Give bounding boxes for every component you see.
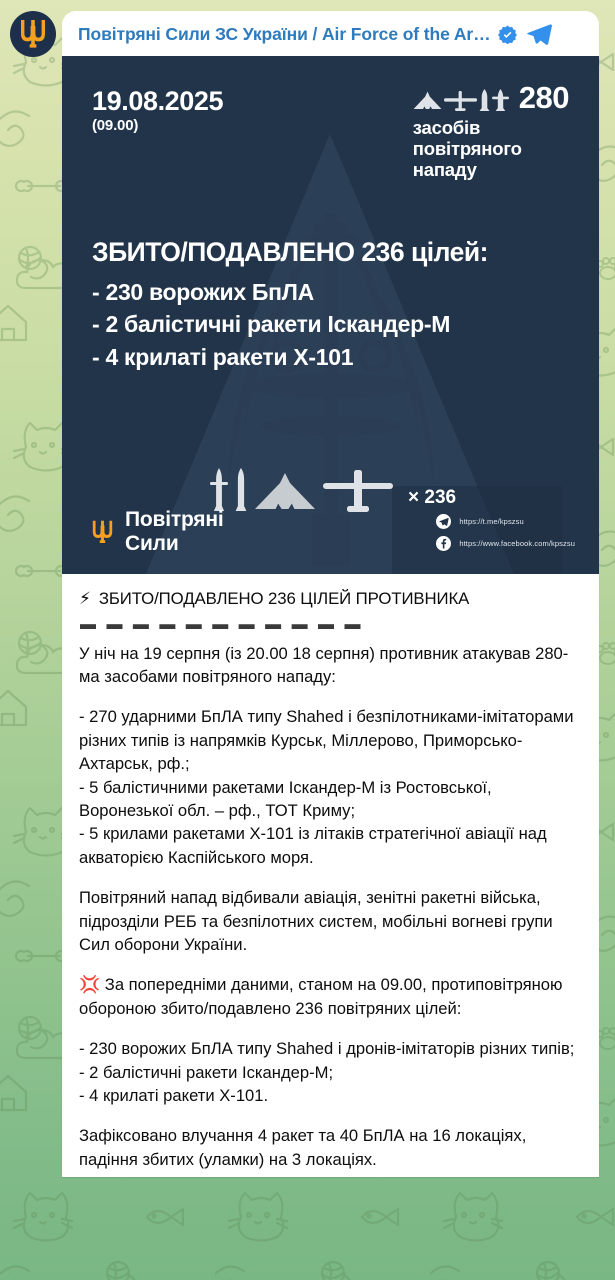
drone-icon — [413, 91, 442, 111]
poster-count-block: 280 засобів повітряного нападу — [413, 82, 573, 180]
message-paragraph-3: 💢 За попередніми даними, станом на 09.00… — [79, 973, 582, 1020]
anger-symbol-icon: 💢 — [79, 975, 100, 994]
poster-link-url: https://t.me/kpszsu — [459, 517, 523, 526]
count-label-line-2: повітряного — [413, 138, 569, 159]
plane-icon — [444, 91, 477, 111]
message-paragraph-2: Повітряний напад відбивали авіація, зені… — [79, 886, 582, 956]
message-title: ЗБИТО/ПОДАВЛЕНО 236 ЦІЛЕЙ ПРОТИВНИКА — [99, 587, 469, 611]
poster-image[interactable]: 19.08.2025 (09.00) — [62, 56, 599, 574]
message-bubble: Повітряні Сили ЗС України / Air Force of… — [62, 11, 599, 1177]
list-item: - 2 балістичні ракети Іскандер-М; — [79, 1061, 582, 1084]
poster-count-number: 280 — [519, 82, 569, 113]
facebook-circle-icon — [436, 536, 451, 551]
missile-icon — [479, 89, 490, 111]
poster-date: 19.08.2025 — [92, 88, 223, 116]
paragraph-text: У ніч на 19 серпня (із 20.00 18 серпня) … — [79, 644, 568, 686]
message-list-1: - 270 ударними БпЛА типу Shahed і безпіл… — [79, 705, 582, 869]
paragraph-text: Повітряний напад відбивали авіація, зені… — [79, 888, 553, 954]
poster-tally-row: × 236 — [210, 468, 456, 512]
poster-headline: ЗБИТО/ПОДАВЛЕНО 236 цілей: — [92, 238, 488, 268]
avatar[interactable] — [10, 11, 56, 57]
poster-headline-item: - 4 крилаті ракети Х-101 — [92, 341, 488, 374]
poster-date-block: 19.08.2025 (09.00) — [92, 82, 223, 134]
message-title-row: ⚡ ЗБИТО/ПОДАВЛЕНО 236 ЦІЛЕЙ ПРОТИВНИКА — [79, 587, 582, 611]
poster-link-facebook: https://www.facebook.com/kpszsu — [436, 536, 575, 551]
chat-message-row: Повітряні Сили ЗС України / Air Force of… — [0, 0, 615, 1177]
paragraph-text: Зафіксовано влучання 4 ракет та 40 БпЛА … — [79, 1126, 526, 1168]
list-item: - 230 ворожих БпЛА типу Shahed і дронів-… — [79, 1037, 582, 1060]
message-paragraph-1: У ніч на 19 серпня (із 20.00 18 серпня) … — [79, 642, 582, 689]
ukrainian-trident-icon — [20, 19, 46, 49]
list-item: - 5 крилами ракетами Х-101 із літаків ст… — [79, 822, 582, 869]
paragraph-text: За попередніми даними, станом на 09.00, … — [79, 975, 562, 1017]
poster-count-label: засобів повітряного нападу — [413, 117, 569, 180]
drone-icon — [254, 472, 316, 512]
rocket-icon — [492, 89, 509, 111]
telegram-circle-icon — [436, 514, 451, 529]
channel-header[interactable]: Повітряні Сили ЗС України / Air Force of… — [62, 11, 599, 56]
plane-icon — [323, 470, 393, 512]
count-label-line-1: засобів — [413, 117, 569, 138]
rocket-icon — [210, 468, 228, 512]
brand-line-2: Сили — [125, 532, 223, 556]
poster-links: https://t.me/kpszsu https://www.facebook… — [436, 514, 575, 551]
message-list-2: - 230 ворожих БпЛА типу Shahed і дронів-… — [79, 1037, 582, 1107]
poster-link-url: https://www.facebook.com/kpszsu — [459, 539, 575, 548]
poster-brand: Повітряні Сили — [92, 508, 223, 556]
poster-count-icons — [413, 85, 509, 111]
poster-headline-item: - 230 ворожих БпЛА — [92, 276, 488, 309]
list-item: - 5 балістичними ракетами Іскандер-М із … — [79, 776, 582, 823]
list-item: - 4 крилаті ракети Х-101. — [79, 1084, 582, 1107]
poster-headline-item: - 2 балістичні ракети Іскандер-М — [92, 308, 488, 341]
list-item: - 270 ударними БпЛА типу Shahed і безпіл… — [79, 705, 582, 775]
message-text: ⚡ ЗБИТО/ПОДАВЛЕНО 236 ЦІЛЕЙ ПРОТИВНИКА ▬… — [62, 574, 599, 1177]
poster-link-telegram: https://t.me/kpszsu — [436, 514, 575, 529]
missile-icon — [235, 468, 247, 512]
brand-line-1: Повітряні — [125, 508, 223, 532]
ukrainian-trident-icon — [92, 517, 113, 547]
channel-name[interactable]: Повітряні Сили ЗС України / Air Force of… — [78, 24, 491, 45]
telegram-plane-icon[interactable] — [526, 21, 552, 47]
message-divider: ▬ ▬ ▬ ▬ ▬ ▬ ▬ ▬ ▬ ▬ ▬ — [80, 617, 582, 633]
count-label-line-3: нападу — [413, 159, 569, 180]
poster-headline-block: ЗБИТО/ПОДАВЛЕНО 236 цілей: - 230 ворожих… — [92, 238, 488, 374]
poster-time: (09.00) — [92, 117, 223, 134]
message-paragraph-4: Зафіксовано влучання 4 ракет та 40 БпЛА … — [79, 1124, 582, 1171]
poster-brand-text: Повітряні Сили — [125, 508, 223, 556]
poster-headline-list: - 230 ворожих БпЛА - 2 балістичні ракети… — [92, 276, 488, 374]
verified-badge-icon — [498, 25, 517, 44]
poster-footer: Повітряні Сили https://t.me/kpszsu — [92, 508, 575, 556]
lightning-icon: ⚡ — [79, 590, 91, 607]
